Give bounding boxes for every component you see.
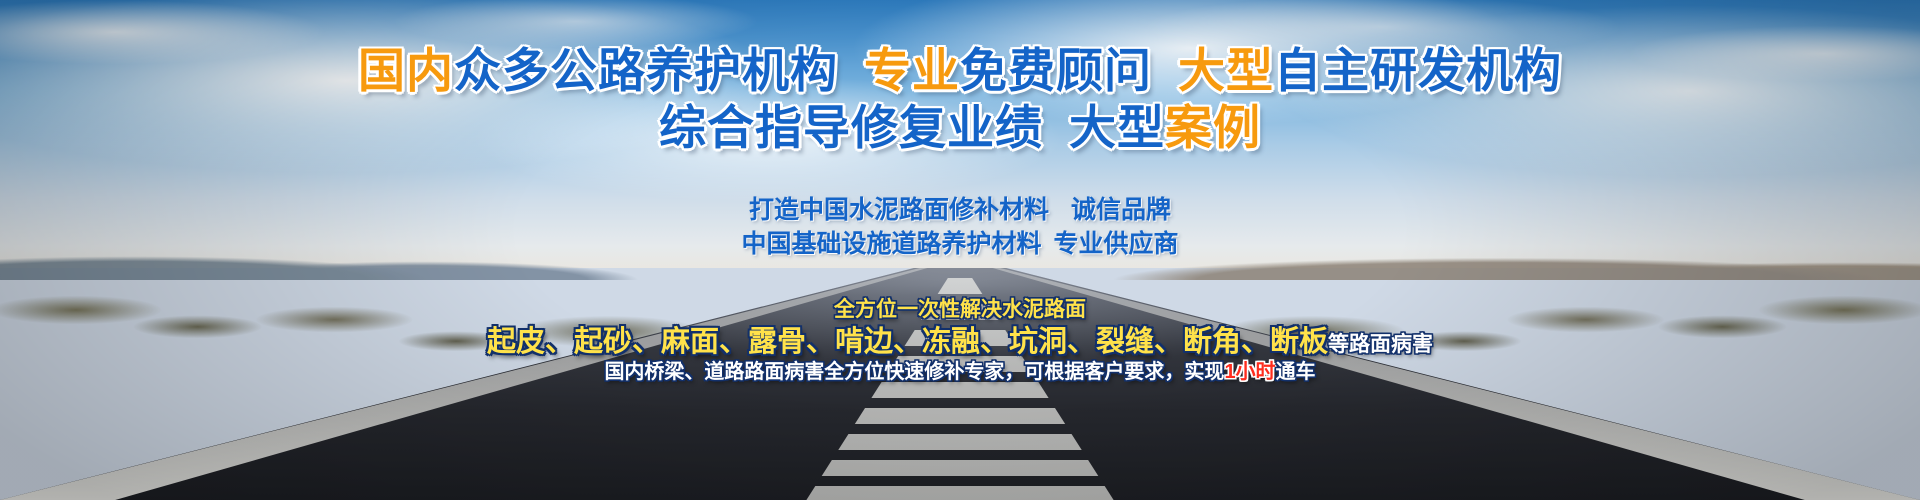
headline-seg-case: 案例 <box>1165 101 1261 154</box>
bottom-line-3: 国内桥梁、道路路面病害全方位快速修补专家，可根据客户要求，实现1小时通车 <box>0 355 1920 384</box>
bottom-seg-disease-list: 起皮、起砂、麻面、露骨、啃边、冻融、坑洞、裂缝、断角、断板 <box>487 326 1328 358</box>
promo-banner: 国内众多公路养护机构专业免费顾问大型自主研发机构 综合指导修复业绩大型案例 打造… <box>0 0 1920 500</box>
subhead-line-1: 打造中国水泥路面修补材料诚信品牌 <box>0 190 1920 226</box>
bottom-seg-open-traffic: 通车 <box>1276 361 1316 383</box>
subhead-seg-trusted-brand: 诚信品牌 <box>1071 196 1171 224</box>
bottom-seg-expert-claim: 国内桥梁、道路路面病害全方位快速修补专家，可根据客户要求，实现 <box>604 361 1224 383</box>
headline-seg-professional: 专业 <box>864 44 960 97</box>
headline-seg-large-scale: 大型 <box>1178 44 1274 97</box>
headline-seg-repair-record: 综合指导修复业绩 <box>659 101 1043 154</box>
banner-text-content: 国内众多公路养护机构专业免费顾问大型自主研发机构 综合指导修复业绩大型案例 打造… <box>0 0 1920 500</box>
headline-seg-large-2: 大型 <box>1069 101 1165 154</box>
subhead-seg-infra-material: 中国基础设施道路养护材料 <box>741 230 1041 258</box>
headline-seg-domestic: 国内 <box>358 44 454 97</box>
headline-line-2: 综合指导修复业绩大型案例 <box>0 101 1920 155</box>
headline-seg-agencies: 众多公路养护机构 <box>454 44 838 97</box>
subhead-seg-supplier: 专业供应商 <box>1054 230 1179 258</box>
headline-seg-rnd-org: 自主研发机构 <box>1274 44 1562 97</box>
subhead-line-2: 中国基础设施道路养护材料专业供应商 <box>0 224 1920 260</box>
bottom-seg-one-hour-highlight: 1小时 <box>1224 361 1275 383</box>
bottom-line-2: 起皮、起砂、麻面、露骨、啃边、冻融、坑洞、裂缝、断角、断板等路面病害 <box>0 318 1920 360</box>
headline-line-1: 国内众多公路养护机构专业免费顾问大型自主研发机构 <box>0 44 1920 98</box>
bottom-seg-disease-suffix: 等路面病害 <box>1328 333 1433 356</box>
subhead-seg-material-brand: 打造中国水泥路面修补材料 <box>749 196 1049 224</box>
headline-seg-free-consult: 免费顾问 <box>960 44 1152 97</box>
